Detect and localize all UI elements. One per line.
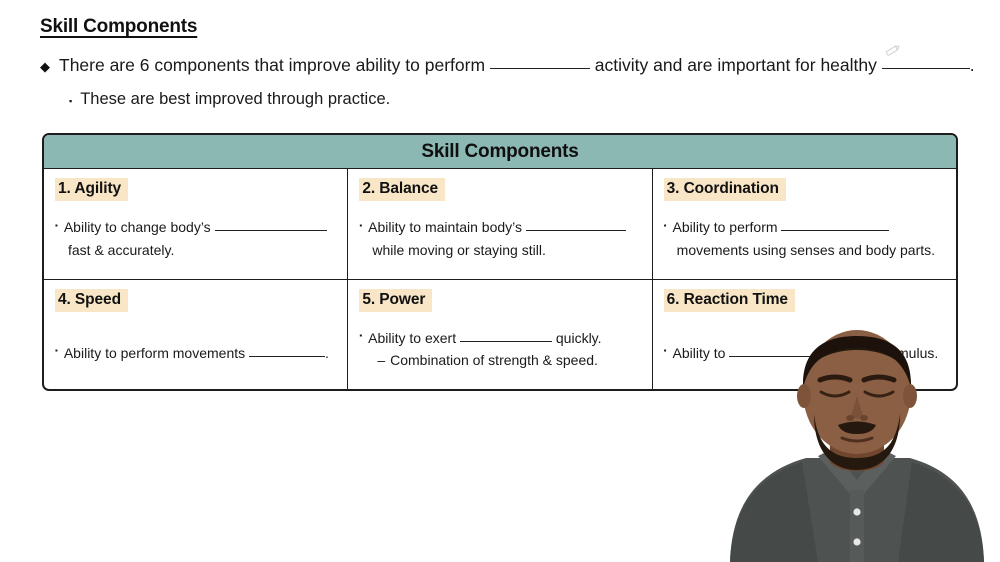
cell-body-speed: ▪Ability to perform movements . [55,342,336,365]
table-header-title: Skill Components [44,135,956,169]
square-bullet-icon: ▪ [55,346,58,355]
cell-body-balance: ▪Ability to maintain body’s while moving… [359,216,640,261]
cell-power[interactable]: 5. Power ▪Ability to exert quickly. –Com… [348,280,652,390]
cell-title-balance: 2. Balance [359,178,445,201]
pencil-icon [884,43,902,57]
page-title: Skill Components [40,16,197,38]
cell-title-reaction-time: 6. Reaction Time [664,289,795,312]
cell-text: Combination of strength & speed. [390,352,598,368]
cell-text: Ability to perform [673,219,778,235]
cell-text: Ability to exert [368,330,456,346]
intro-bullet-primary-text: There are 6 components that improve abil… [59,55,975,76]
cell-text: Ability to change body’s [64,219,211,235]
intro-bullet-secondary-text: These are best improved through practice… [80,90,390,109]
cell-title-coordination: 3. Coordination [664,178,786,201]
slide-canvas: Skill Components ◆ There are 6 component… [0,0,1000,562]
fill-blank-2[interactable] [882,68,970,69]
intro-text-part-c: . [970,55,975,75]
cell-line: ▪Ability to change body’s [55,216,336,239]
cell-line: ▪Ability to perform [664,216,945,239]
square-bullet-icon: ▪ [664,346,667,355]
fill-blank-1[interactable] [490,68,590,69]
cell-balance[interactable]: 2. Balance ▪Ability to maintain body’s w… [348,169,652,279]
intro-text-part-b: activity and are important for healthy [595,55,877,75]
cell-title-speed: 4. Speed [55,289,128,312]
cell-body-coordination: ▪Ability to perform movements using sens… [664,216,945,261]
square-bullet-icon: ▪ [69,97,72,106]
cell-coordination[interactable]: 3. Coordination ▪Ability to perform move… [653,169,956,279]
fill-blank-balance[interactable] [526,230,626,231]
instructor-video-overlay[interactable] [714,330,1000,562]
cell-text-end: quickly. [556,330,602,346]
cell-line: ▪Ability to perform movements . [55,342,336,365]
square-bullet-icon: ▪ [359,331,362,340]
table-row: 1. Agility ▪Ability to change body’s fas… [44,169,956,280]
diamond-bullet-icon: ◆ [40,60,50,73]
square-bullet-icon: ▪ [359,221,362,230]
cell-line: ▪Ability to maintain body’s [359,216,640,239]
cell-title-agility: 1. Agility [55,178,128,201]
cell-line: ▪Ability to exert quickly. [359,327,640,350]
cell-speed[interactable]: 4. Speed ▪Ability to perform movements . [44,280,348,390]
fill-blank-power[interactable] [460,341,552,342]
cell-line: fast & accurately. [55,239,336,262]
cell-agility[interactable]: 1. Agility ▪Ability to change body’s fas… [44,169,348,279]
square-bullet-icon: ▪ [55,221,58,230]
cell-body-power: ▪Ability to exert quickly. –Combination … [359,327,640,372]
cell-line: –Combination of strength & speed. [359,349,640,372]
cell-text-end: . [325,345,329,361]
square-bullet-icon: ▪ [664,221,667,230]
dash-bullet-icon: – [377,352,385,368]
cell-line: while moving or staying still. [359,239,640,262]
cell-text: Ability to maintain body’s [368,219,522,235]
intro-text-part-a: There are 6 components that improve abil… [59,55,485,75]
intro-bullet-primary: ◆ There are 6 components that improve ab… [40,55,975,76]
fill-blank-coordination[interactable] [781,230,889,231]
fill-blank-agility[interactable] [215,230,327,231]
fill-blank-speed[interactable] [249,356,325,357]
cell-line: movements using senses and body parts. [664,239,945,262]
cell-title-power: 5. Power [359,289,432,312]
cell-body-agility: ▪Ability to change body’s fast & accurat… [55,216,336,261]
intro-bullet-secondary: ▪ These are best improved through practi… [69,90,390,109]
cell-text: Ability to perform movements [64,345,245,361]
